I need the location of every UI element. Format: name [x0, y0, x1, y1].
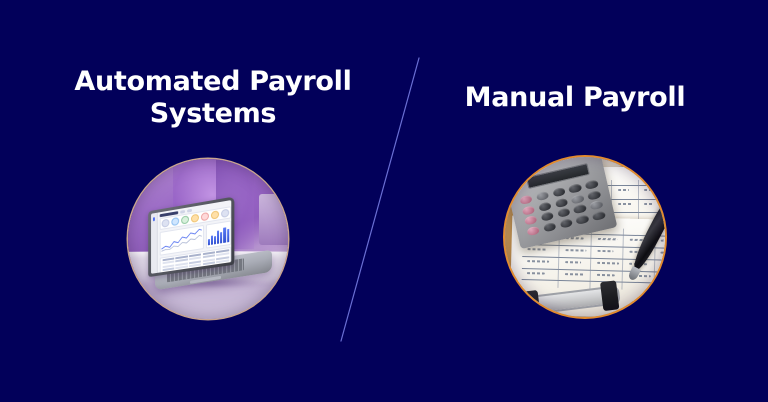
calculator-key: [543, 222, 557, 233]
handwriting: [661, 251, 665, 253]
handwriting: [528, 248, 548, 251]
calculator-key: [519, 194, 533, 205]
calculator-ledger-photo: [505, 157, 665, 317]
bar-chart: [206, 220, 232, 248]
calculator-key: [524, 215, 538, 226]
handwriting: [661, 239, 665, 241]
right-photo-circle: [505, 157, 665, 317]
action-icon: [211, 210, 219, 219]
handwriting: [660, 275, 665, 277]
dashboard-logo: [153, 217, 155, 221]
calculator-key: [585, 179, 599, 190]
handwriting: [565, 272, 585, 275]
action-icon: [181, 215, 189, 224]
comparison-graphic: Automated Payroll Systems Manual Payroll: [0, 0, 768, 402]
line-chart-svg: [161, 226, 203, 255]
laptop-dashboard-photo: [128, 159, 288, 319]
handwriting: [528, 260, 550, 263]
calculator-key: [522, 205, 536, 216]
office-scene: [128, 159, 288, 319]
calculator-key: [574, 204, 588, 215]
handwriting: [527, 271, 545, 273]
bar: [208, 239, 210, 245]
calculator-key: [538, 201, 552, 212]
action-icon: [162, 219, 170, 228]
line-chart: [160, 225, 204, 256]
table-cell: [162, 271, 174, 274]
calculator-key: [592, 210, 606, 221]
left-heading: Automated Payroll Systems: [46, 66, 380, 130]
desk-scene: [505, 157, 665, 317]
handwriting: [597, 273, 615, 275]
calculator-key: [576, 214, 590, 225]
table-cell: [176, 265, 188, 269]
table-cell: [216, 259, 228, 263]
action-icon: [191, 214, 199, 223]
bar: [211, 235, 213, 245]
ledger-line: [522, 279, 665, 284]
bar: [224, 227, 226, 243]
table-cell: [203, 261, 215, 265]
action-icon: [221, 209, 229, 218]
handwriting: [618, 203, 633, 205]
bar: [227, 228, 229, 242]
handwriting: [598, 238, 618, 241]
handwriting: [565, 261, 581, 263]
calculator-key: [555, 197, 569, 208]
handwriting: [597, 261, 619, 264]
action-icon: [172, 217, 180, 226]
table-cell: [162, 267, 174, 271]
dashboard-filter-pill: [187, 208, 192, 212]
bar: [214, 236, 216, 244]
ledger-column-rule: [638, 180, 639, 223]
laptop: [147, 204, 272, 294]
handwriting: [644, 189, 657, 191]
bar: [221, 232, 223, 243]
left-photo-circle: [128, 159, 288, 319]
clip-knob-left: [522, 291, 541, 317]
handwriting: [644, 203, 654, 205]
handwriting: [660, 263, 665, 265]
laptop-screen: [151, 199, 231, 273]
handwriting: [618, 189, 630, 191]
handwriting: [598, 249, 614, 251]
table-cell: [189, 263, 201, 267]
calculator-key: [541, 211, 555, 222]
calculator-key: [588, 189, 602, 200]
calculator-key: [557, 207, 571, 218]
calculator-key: [590, 200, 604, 211]
bar: [218, 231, 220, 244]
calculator-key: [559, 218, 573, 229]
dashboard-main: [158, 199, 232, 272]
action-icon: [201, 212, 209, 221]
laptop-lid: [148, 196, 235, 277]
handwriting: [566, 249, 588, 252]
clip-knob-right: [600, 281, 619, 311]
right-heading: Manual Payroll: [430, 82, 720, 114]
calculator-key: [526, 225, 540, 236]
calculator-key: [569, 183, 583, 194]
calculator-key: [536, 190, 550, 201]
dashboard-filter-pill: [180, 209, 185, 213]
calculator-key: [571, 193, 585, 204]
calculator-key: [552, 187, 566, 198]
